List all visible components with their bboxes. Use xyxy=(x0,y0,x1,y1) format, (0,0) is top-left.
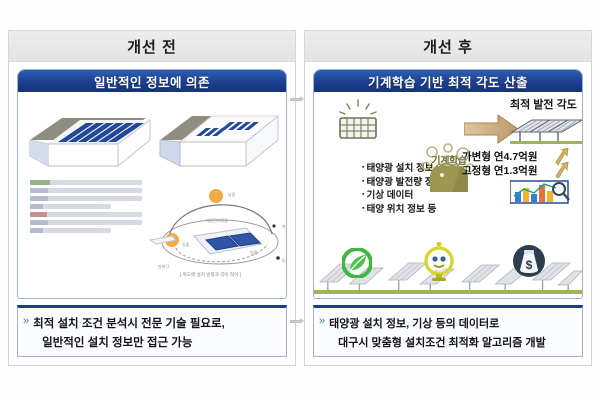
eco-leaf-icon xyxy=(342,248,372,278)
before-card-header: 일반적인 정보에 의존 xyxy=(18,70,286,92)
before-panel-title: 개선 전 xyxy=(9,31,295,62)
before-callout-line-1: 최적 설치 조건 분석시 전문 기술 필요로, xyxy=(33,315,225,331)
money-bag-icon: $ xyxy=(512,244,546,278)
up-arrow-icon xyxy=(554,148,570,178)
optimal-angle-label: 최적 발전 각도 xyxy=(510,96,577,112)
svg-text:태양전지모듈: 태양전지모듈 xyxy=(206,217,228,223)
connector-arrow-bottom xyxy=(290,318,304,325)
svg-text:방위각: 방위각 xyxy=(158,263,169,269)
after-callout-bullet: » xyxy=(319,312,325,327)
after-card: 기계학습 기반 최적 각도 산출 xyxy=(313,69,583,299)
after-callout-line-1: 태양광 설치 정보, 기상 등의 데이터로 xyxy=(329,315,546,331)
svg-text:동: 동 xyxy=(282,258,286,263)
comparison-figure: 개선 전 일반적인 정보에 의존 xyxy=(0,0,600,400)
input-item: 태양 위치 정보 등 xyxy=(362,203,442,217)
before-callout: » 최적 설치 조건 분석시 전문 기술 필요로, 일반적인 설치 정보만 접근… xyxy=(17,305,287,357)
analytics-chart-icon xyxy=(510,180,572,206)
before-card-body: 남중 태양전지모듈 일출 일몰 방위각 북 동 [ 위도에 설치 방향과 각이 … xyxy=(18,92,286,298)
after-callout: » 태양광 설치 정보, 기상 등의 데이터로 대구시 맞춤형 설치조건 최적화… xyxy=(313,305,583,357)
before-callout-bullet: » xyxy=(23,312,29,327)
svg-text:일출: 일출 xyxy=(182,241,190,247)
svg-text:일몰: 일몰 xyxy=(250,249,258,255)
sun-path-caption: [ 위도에 설치 방향과 각이 작아 ] xyxy=(180,271,241,278)
ai-robot-icon xyxy=(422,242,456,282)
svg-text:남중: 남중 xyxy=(228,191,236,197)
explanatory-text-block xyxy=(30,180,142,236)
solar-roof-block-dense-icon xyxy=(28,100,154,178)
svg-text:북: 북 xyxy=(282,224,286,229)
before-callout-line-2: 일반적인 설치 정보만 접근 가능 xyxy=(33,334,225,350)
after-panel-title: 개선 후 xyxy=(305,31,591,62)
after-card-header: 기계학습 기반 최적 각도 산출 xyxy=(314,70,582,92)
after-panel-body: 기계학습 기반 최적 각도 산출 xyxy=(305,62,591,365)
before-card: 일반적인 정보에 의존 xyxy=(17,69,287,299)
before-panel: 개선 전 일반적인 정보에 의존 xyxy=(8,30,296,366)
after-callout-line-2: 대구시 맞춤형 설치조건 최적화 알고리즘 개발 xyxy=(329,334,546,350)
after-panel: 개선 후 기계학습 기반 최적 각도 산출 xyxy=(304,30,592,366)
machine-learning-label: 기계학습 xyxy=(418,152,480,167)
sun-path-diagram: 남중 태양전지모듈 일출 일몰 방위각 북 동 [ 위도에 설치 방향과 각이 … xyxy=(146,170,286,282)
solar-roof-block-sparse-icon xyxy=(158,96,284,178)
after-card-body: 태양광 설치 정보 태양광 발전량 정보 기상 데이터 태양 위치 정보 등 기… xyxy=(314,92,582,298)
tilted-solar-array-icon xyxy=(510,114,582,148)
before-panel-body: 일반적인 정보에 의존 xyxy=(9,62,295,365)
solar-panel-sun-icon xyxy=(332,98,384,144)
svg-text:$: $ xyxy=(526,258,533,272)
connector-arrow-top xyxy=(290,96,304,103)
